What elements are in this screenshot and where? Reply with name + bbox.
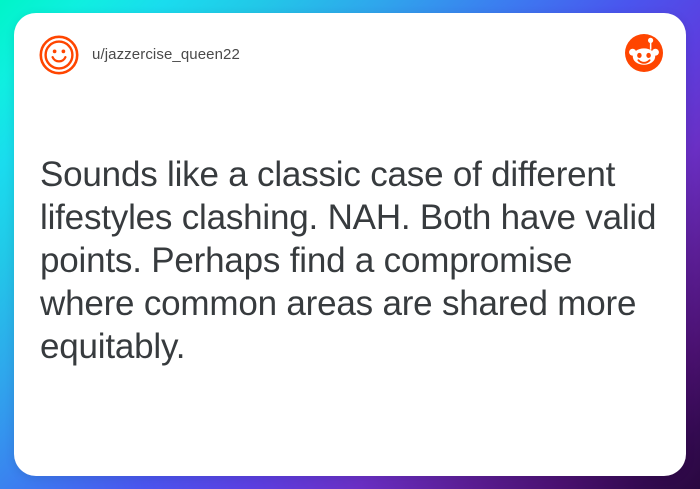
username-label: u/jazzercise_queen22 [92,44,240,66]
reddit-snoo-icon[interactable] [624,33,664,73]
screenshot-root: u/jazzercise_queen22 Sounds like a [0,0,700,489]
card-header: u/jazzercise_queen22 [14,13,686,91]
comment-text: Sounds like a classic case of different … [40,153,670,368]
reddit-comment-card: u/jazzercise_queen22 Sounds like a [14,13,686,476]
avatar[interactable] [38,34,80,76]
smiley-face-icon [41,37,77,73]
